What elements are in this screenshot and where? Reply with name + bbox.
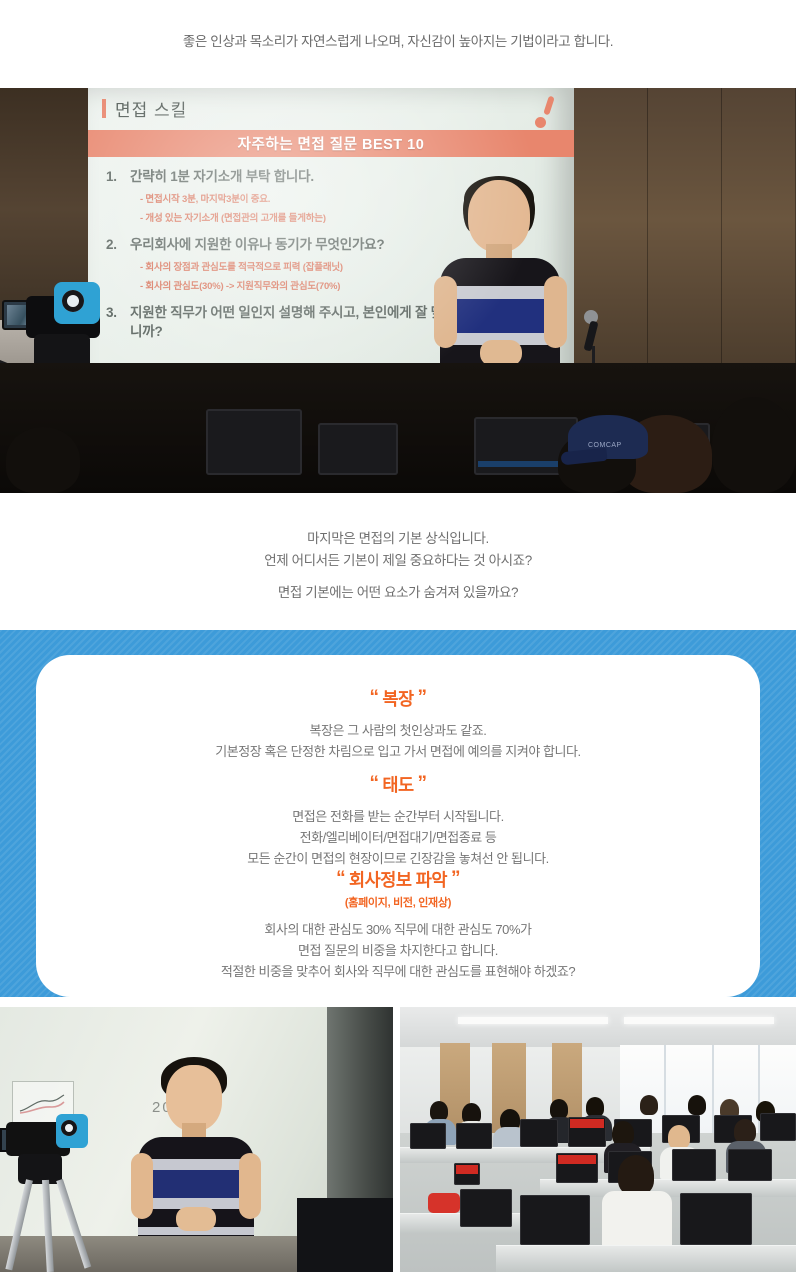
topic-body: 복장은 그 사람의 첫인상과도 같죠. 기본정장 혹은 단정한 차림으로 입고 … <box>36 720 760 762</box>
mid-caption-line-3: 면접 기본에는 어떤 요소가 숨겨져 있을까요? <box>0 582 796 604</box>
student-figure <box>640 1095 658 1115</box>
computer-lab-students-photo <box>400 1007 796 1272</box>
mid-caption: 마지막은 면접의 기본 상식입니다. 언제 어디서든 기본이 제일 중요하다는 … <box>0 528 796 604</box>
lab-monitor <box>520 1119 558 1147</box>
student-figure <box>688 1095 706 1115</box>
lecture-hall-photo: 면접 스킬 자주하는 면접 질문 BEST 10 1. 간략히 1분 자기소개 … <box>0 88 796 493</box>
topic-heading-text: 복장 <box>382 689 413 709</box>
topic-heading-text: 태도 <box>382 775 413 795</box>
topic-line: 모든 순간이 면접의 현장이므로 긴장감을 놓쳐선 안 됩니다. <box>36 848 760 869</box>
lab-monitor <box>680 1193 752 1245</box>
question-text: 우리회사에 지원한 이유나 동기가 무엇인가요? <box>130 236 384 254</box>
slide-title-row: 면접 스킬 <box>102 96 187 121</box>
topic-line: 면접은 전화를 받는 순간부터 시작됩니다. <box>36 806 760 827</box>
student-figure <box>618 1155 654 1195</box>
quote-close-icon: ” <box>418 687 427 708</box>
slide-band-title: 자주하는 면접 질문 BEST 10 <box>238 133 425 154</box>
slide-band: 자주하는 면접 질문 BEST 10 <box>88 130 574 157</box>
topic-line: 전화/엘리베이터/면접대기/면접종료 등 <box>36 827 760 848</box>
audience-head <box>712 397 796 493</box>
lab-monitor <box>520 1195 590 1245</box>
ceiling-light <box>624 1017 774 1024</box>
lab-monitor <box>454 1163 480 1185</box>
lab-monitor <box>760 1113 796 1141</box>
student-figure <box>586 1097 604 1117</box>
quote-close-icon: ” <box>451 868 460 889</box>
lab-monitor <box>568 1117 606 1147</box>
topic-heading: “ 태도 ” <box>36 772 760 797</box>
question-number: 1. <box>106 168 120 186</box>
topic-heading: “ 회사정보 파악 ” <box>36 867 760 892</box>
red-chair <box>428 1193 460 1213</box>
topic-subheading: (홈페이지, 비전, 인재상) <box>36 894 760 910</box>
equipment-box <box>297 1198 393 1272</box>
audience-cap: COMCAP <box>568 415 648 459</box>
slide-title-accent-bar <box>102 99 106 118</box>
question-number: 2. <box>106 236 120 254</box>
mid-caption-line-1: 마지막은 면접의 기본 상식입니다. <box>0 528 796 550</box>
topic-line: 적절한 비중을 맞추어 회사와 직무에 대한 관심도를 표현해야 하겠죠? <box>36 961 760 982</box>
topic-heading: “ 복장 ” <box>36 686 760 711</box>
lab-monitor <box>456 1123 492 1149</box>
topic-body: 면접은 전화를 받는 순간부터 시작됩니다. 전화/엘리베이터/면접대기/면접종… <box>36 806 760 869</box>
topic-line: 복장은 그 사람의 첫인상과도 같죠. <box>36 720 760 741</box>
quote-open-icon: “ <box>336 868 345 889</box>
camcorder-tripod <box>0 1112 110 1272</box>
lab-monitor <box>728 1149 772 1181</box>
cap-logo-text: COMCAP <box>588 442 622 449</box>
quote-close-icon: ” <box>418 773 427 794</box>
blog-post-page: 좋은 인상과 목소리가 자연스럽게 나오며, 자신감이 높아지는 기법이라고 합… <box>0 0 796 1272</box>
topic-line: 면접 질문의 비중을 차지한다고 합니다. <box>36 940 760 961</box>
ceiling-light <box>458 1017 608 1024</box>
audience-head <box>6 427 80 493</box>
topic-line: 회사의 대한 관심도 30% 직무에 대한 관심도 70%가 <box>36 919 760 940</box>
question-text: 간략히 1분 자기소개 부탁 합니다. <box>130 168 314 186</box>
mid-caption-line-2: 언제 어디서든 기본이 제일 중요하다는 것 아시죠? <box>0 550 796 572</box>
student-figure <box>668 1125 690 1149</box>
lab-monitor <box>556 1153 598 1183</box>
lab-monitor <box>410 1123 446 1149</box>
tip-topic-attitude: “ 태도 ” 면접은 전화를 받는 순간부터 시작됩니다. 전화/엘리베이터/면… <box>36 772 760 869</box>
student-figure <box>430 1101 448 1121</box>
student-figure <box>734 1119 756 1143</box>
quote-open-icon: “ <box>369 687 378 708</box>
intro-caption: 좋은 인상과 목소리가 자연스럽게 나오며, 자신감이 높아지는 기법이라고 합… <box>0 32 796 52</box>
student-figure <box>612 1121 634 1145</box>
student-figure <box>550 1099 568 1119</box>
slide-title: 면접 스킬 <box>115 96 187 121</box>
tip-topic-dress: “ 복장 ” 복장은 그 사람의 첫인상과도 같죠. 기본정장 혹은 단정한 차… <box>36 686 760 762</box>
quote-open-icon: “ <box>369 773 378 794</box>
lab-monitor <box>672 1149 716 1181</box>
topic-heading-text: 회사정보 파악 <box>349 870 447 890</box>
lab-desk <box>496 1245 796 1272</box>
slide-decoration-icon <box>522 96 562 134</box>
tips-card: “ 복장 ” 복장은 그 사람의 첫인상과도 같죠. 기본정장 혹은 단정한 차… <box>36 655 760 997</box>
topic-body: 회사의 대한 관심도 30% 직무에 대한 관심도 70%가 면접 질문의 비중… <box>36 919 760 982</box>
presenter-with-camcorder-photo: 20 . 25 <box>0 1007 393 1272</box>
lab-monitor <box>460 1189 512 1227</box>
tip-topic-company-research: “ 회사정보 파악 ” (홈페이지, 비전, 인재상) 회사의 대한 관심도 3… <box>36 867 760 982</box>
topic-line: 기본정장 혹은 단정한 차림으로 입고 가서 면접에 예의를 지켜야 합니다. <box>36 741 760 762</box>
